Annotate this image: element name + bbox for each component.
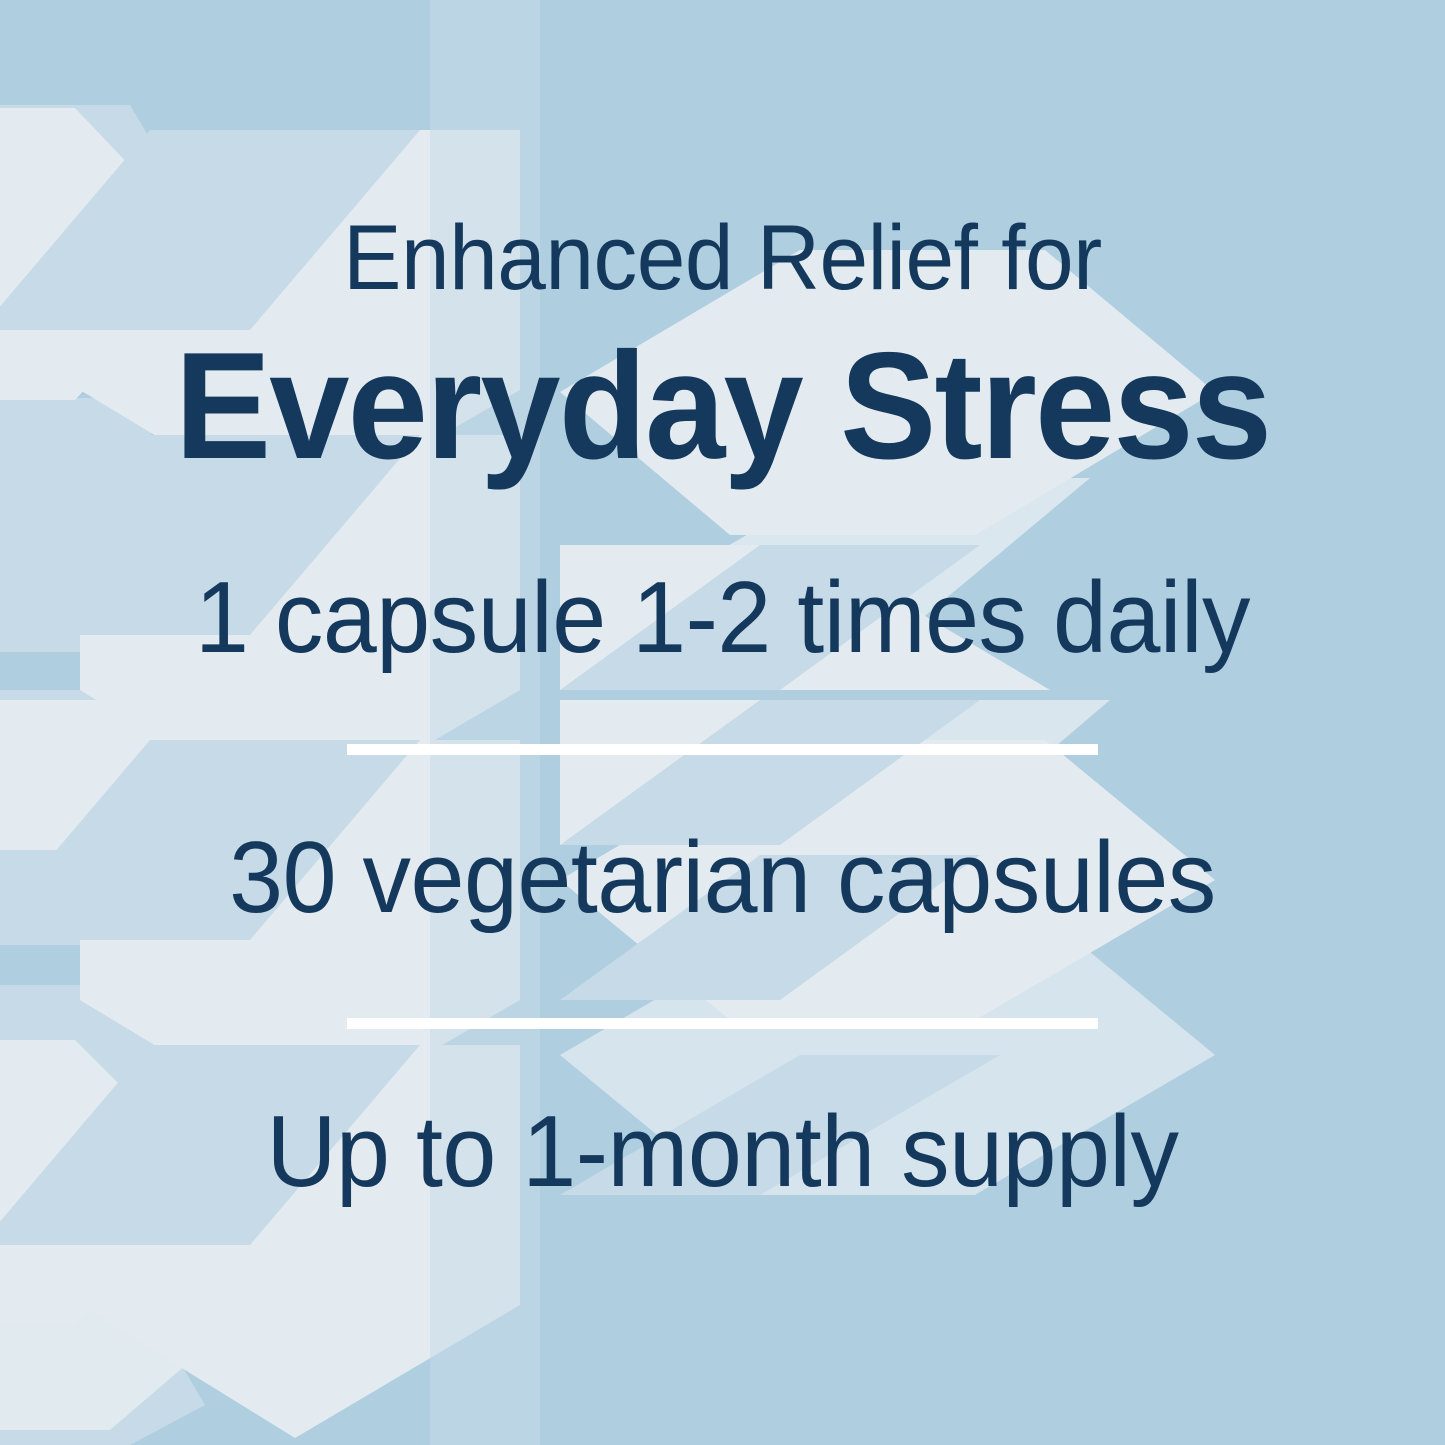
fact-supply-duration: Up to 1-month supply [29, 1102, 1416, 1203]
divider-rule-top [347, 744, 1098, 755]
fact-capsule-count: 30 vegetarian capsules [29, 828, 1416, 929]
eyebrow-text: Enhanced Relief for [36, 212, 1409, 304]
product-benefits-panel: Enhanced Relief for Everyday Stress 1 ca… [0, 0, 1445, 1445]
benefits-content: Enhanced Relief for Everyday Stress 1 ca… [0, 0, 1445, 1445]
headline-text: Everyday Stress [36, 330, 1409, 482]
fact-dosage: 1 capsule 1-2 times daily [29, 568, 1416, 669]
divider-rule-bottom [347, 1018, 1098, 1029]
